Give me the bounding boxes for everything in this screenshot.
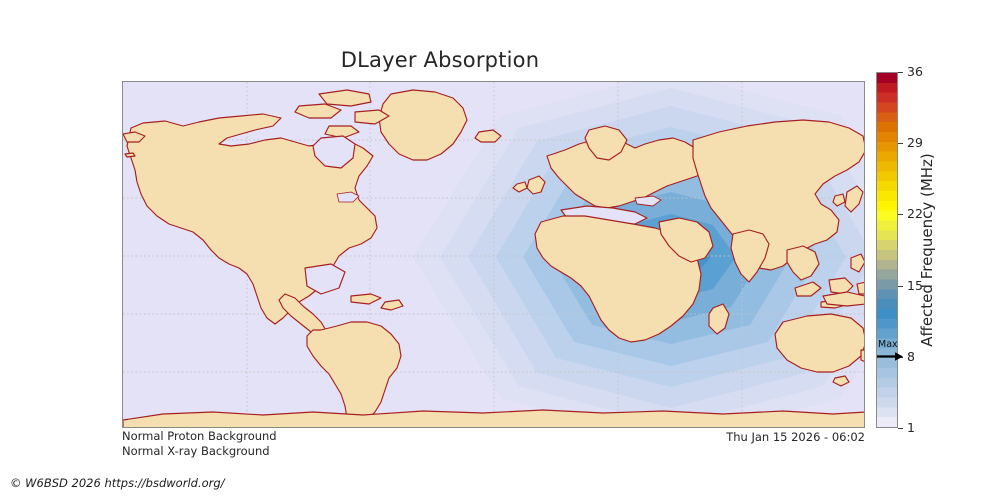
land-aleutian-1 [125, 153, 135, 157]
tick-mark [898, 214, 903, 215]
status-notes: Normal Proton Background Normal X-ray Ba… [122, 429, 542, 458]
proton-background-status: Normal Proton Background [122, 429, 542, 444]
timestamp-label: Thu Jan 15 2026 - 06:02 [565, 430, 865, 445]
tick-mark [898, 428, 903, 429]
tick-mark [898, 286, 903, 287]
world-map [123, 82, 865, 428]
max-arrow-icon [877, 352, 903, 361]
tick-mark [898, 143, 903, 144]
copyright-label: © W6BSD 2026 https://bsdworld.org/ [10, 476, 225, 490]
land-new-zealand-n [861, 350, 865, 362]
colorbar-gradient [877, 73, 897, 427]
colorbar[interactable] [876, 72, 898, 428]
xray-background-status: Normal X-ray Background [122, 444, 542, 459]
land-arctic-islands-1 [319, 90, 371, 106]
colorbar-max-marker: Max [877, 341, 917, 363]
map-axes[interactable] [122, 81, 865, 428]
tick-label: 1 [907, 419, 915, 437]
figure-canvas: DLayer Absorption [0, 0, 1000, 500]
land-sulawesi [857, 282, 865, 294]
colorbar-axis-label: Affected Frequency (MHz) [916, 72, 938, 428]
colorbar-max-label: Max [878, 339, 898, 350]
page-title: DLayer Absorption [0, 48, 880, 72]
tick-mark [898, 72, 903, 73]
